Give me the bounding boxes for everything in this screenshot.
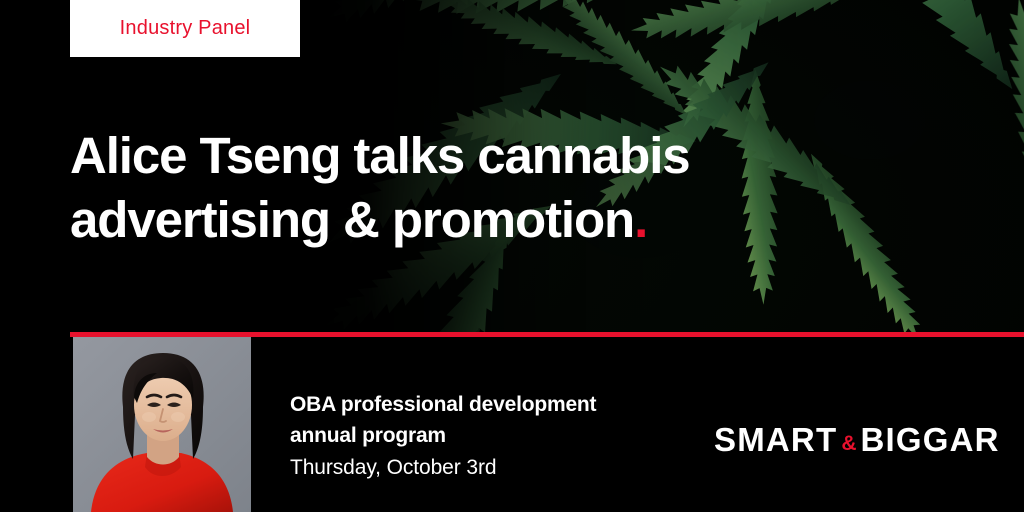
event-date: Thursday, October 3rd bbox=[290, 453, 596, 482]
headline-line-2-wrapper: advertising & promotion. bbox=[70, 188, 770, 252]
logo-word-biggar: BIGGAR bbox=[861, 421, 1000, 459]
industry-panel-badge-label: Industry Panel bbox=[120, 17, 251, 40]
industry-panel-badge: Industry Panel bbox=[70, 0, 300, 57]
speaker-headshot-photo bbox=[73, 337, 251, 512]
event-title-line-1: OBA professional development bbox=[290, 390, 596, 421]
headline: Alice Tseng talks cannabis advertising &… bbox=[70, 124, 770, 252]
headline-accent-dot: . bbox=[634, 191, 647, 248]
logo-ampersand: & bbox=[837, 432, 860, 456]
headline-line-1: Alice Tseng talks cannabis bbox=[70, 124, 770, 188]
headline-line-2: advertising & promotion bbox=[70, 191, 634, 248]
promotional-banner: Industry Panel Alice Tseng talks cannabi… bbox=[0, 0, 1024, 512]
smart-biggar-logo: SMART & BIGGAR bbox=[714, 421, 1000, 459]
event-title-line-2: annual program bbox=[290, 421, 596, 452]
logo-word-smart: SMART bbox=[714, 421, 837, 459]
event-details: OBA professional development annual prog… bbox=[290, 390, 596, 483]
